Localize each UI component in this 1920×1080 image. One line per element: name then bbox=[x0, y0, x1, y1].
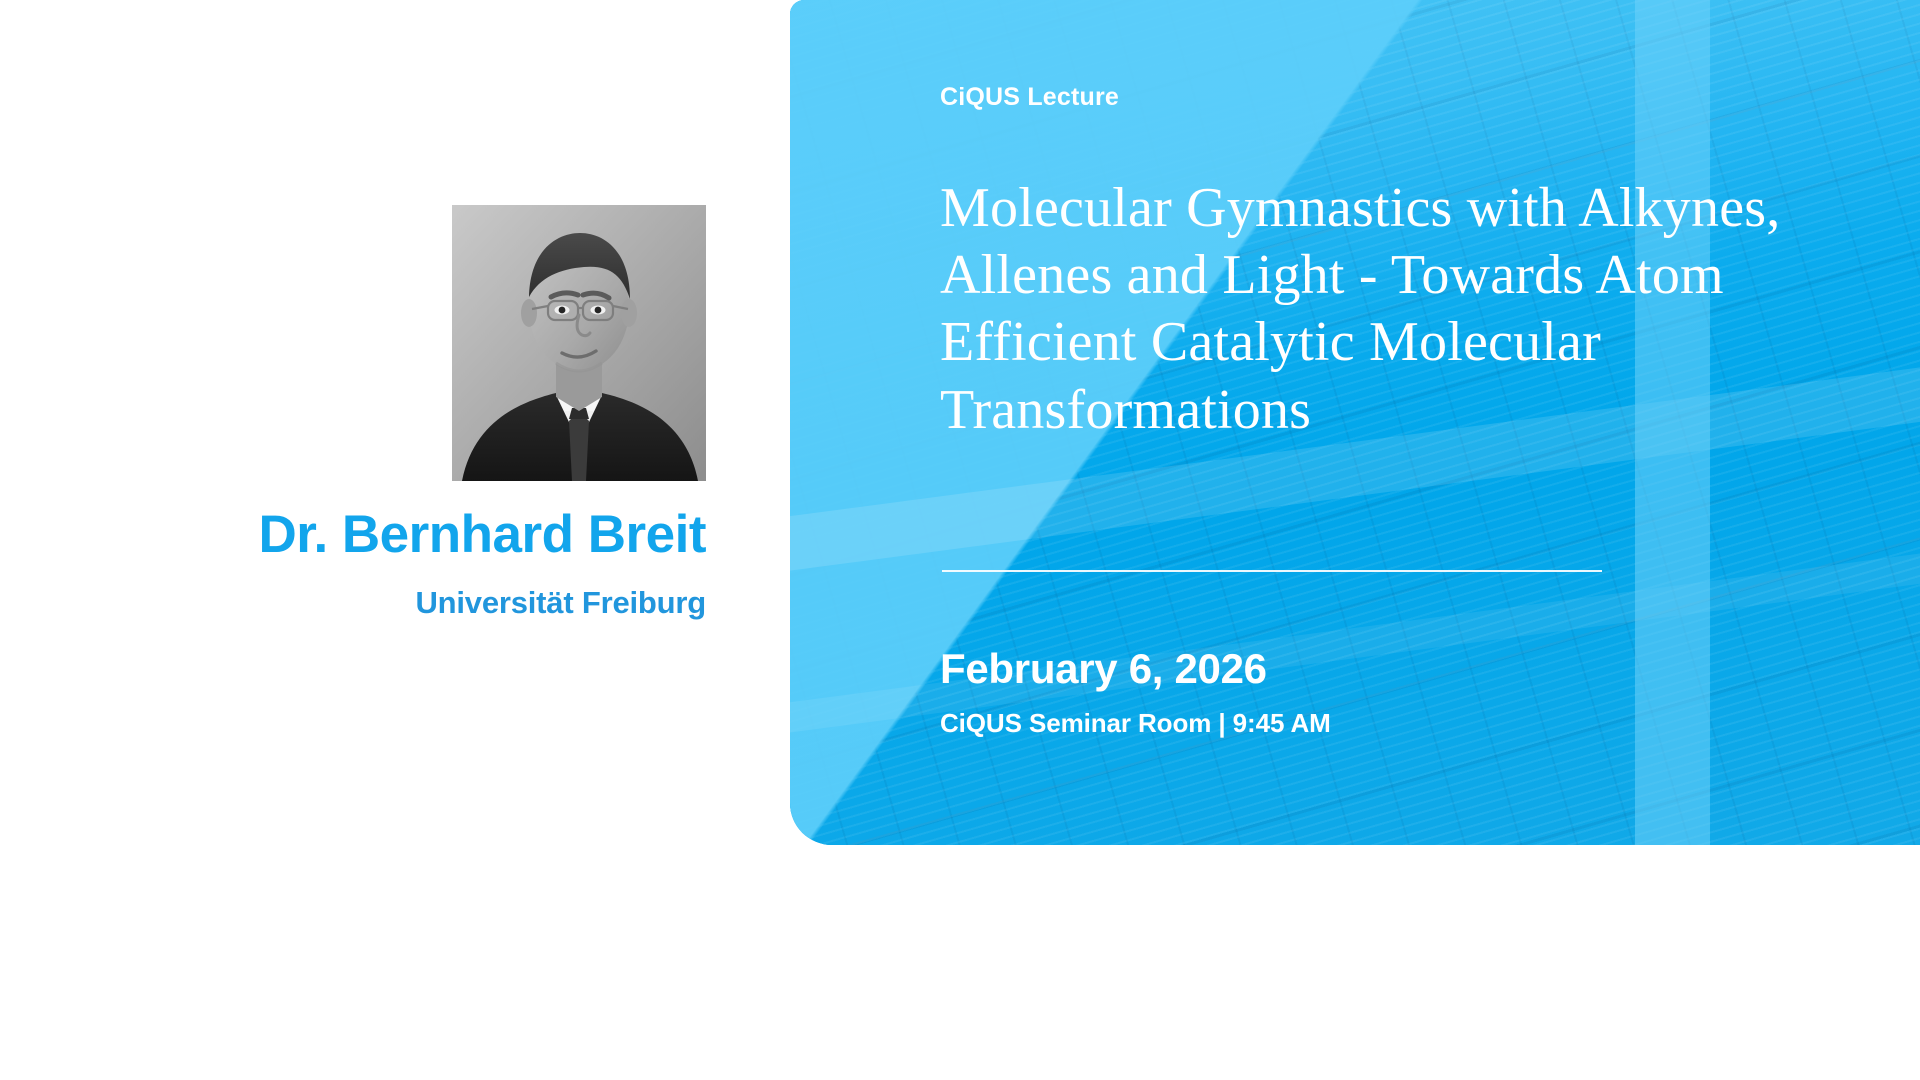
lecture-announcement-poster: Dr. Bernhard Breit Universität Freiburg … bbox=[0, 0, 1920, 1080]
lecture-kicker: CiQUS Lecture bbox=[940, 83, 1119, 112]
speaker-portrait bbox=[452, 205, 706, 481]
lecture-venue-time: CiQUS Seminar Room | 9:45 AM bbox=[940, 708, 1331, 739]
panel-content: CiQUS Lecture Molecular Gymnastics with … bbox=[790, 0, 1920, 845]
sponsor-logo-strip: Rede CIGUS Centros de investigación do S… bbox=[0, 880, 1920, 1080]
speaker-affiliation: Universität Freiburg bbox=[0, 586, 706, 620]
speaker-column: Dr. Bernhard Breit Universität Freiburg bbox=[0, 0, 790, 845]
section-divider bbox=[942, 570, 1602, 572]
lecture-title: Molecular Gymnastics with Alkynes, Allen… bbox=[940, 175, 1880, 444]
speaker-name: Dr. Bernhard Breit bbox=[0, 507, 706, 563]
lecture-info-panel: CiQUS Lecture Molecular Gymnastics with … bbox=[790, 0, 1920, 845]
lecture-date: February 6, 2026 bbox=[940, 645, 1267, 693]
